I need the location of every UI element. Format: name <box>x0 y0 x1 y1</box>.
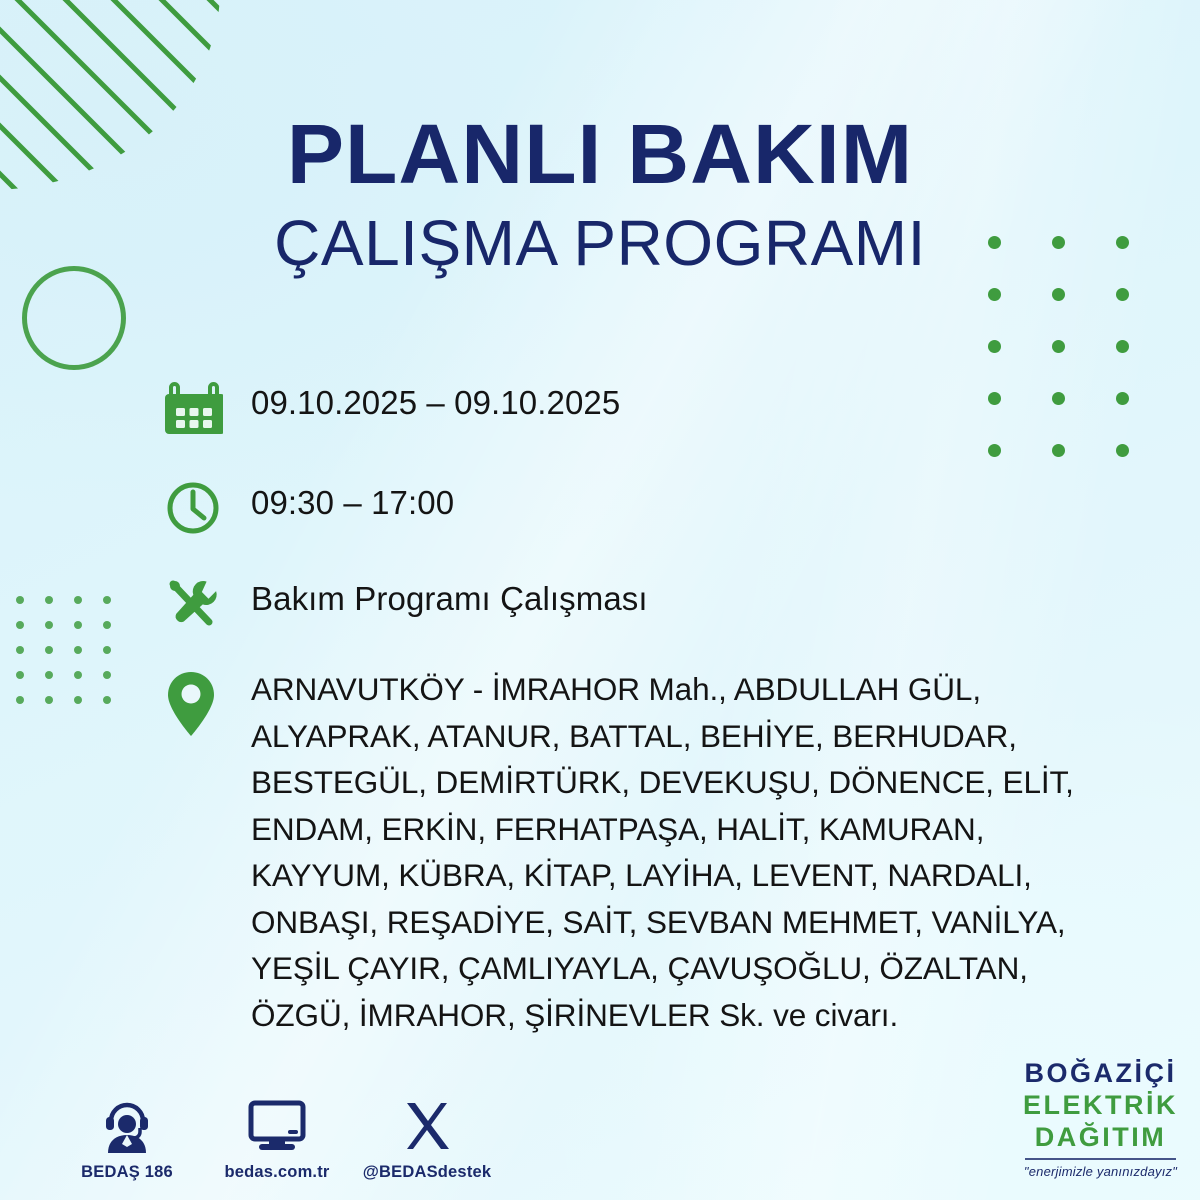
contact-phone[interactable]: BEDAŞ 186 <box>52 1091 202 1182</box>
contact-website[interactable]: bedas.com.tr <box>202 1091 352 1182</box>
monitor-icon <box>202 1091 352 1153</box>
logo-line-dagitim: DAĞITIM <box>1023 1124 1178 1151</box>
work-type-text: Bakım Programı Çalışması <box>251 574 648 620</box>
address-text: ARNAVUTKÖY - İMRAHOR Mah., ABDULLAH GÜL,… <box>251 666 1074 1038</box>
contact-phone-label: BEDAŞ 186 <box>52 1163 202 1182</box>
tools-icon <box>165 574 251 632</box>
address-line: KAYYUM, KÜBRA, KİTAP, LAYİHA, LEVENT, NA… <box>251 852 1074 899</box>
company-logo: BOĞAZİÇİ ELEKTRİK DAĞITIM "enerjimizle y… <box>1023 1060 1178 1178</box>
calendar-icon <box>165 378 251 438</box>
time-row: 09:30 – 17:00 <box>165 478 1160 574</box>
logo-divider <box>1025 1158 1176 1160</box>
title-subtitle-text: ÇALIŞMA PROGRAMI <box>0 210 1200 277</box>
info-block: 09.10.2025 – 09.10.2025 09:30 – 17:00 Ba… <box>165 378 1160 1038</box>
contact-website-label: bedas.com.tr <box>202 1163 352 1182</box>
date-row: 09.10.2025 – 09.10.2025 <box>165 378 1160 478</box>
logo-line-elektrik: ELEKTRİK <box>1023 1092 1178 1119</box>
contact-x-social[interactable]: @BEDASdestek <box>352 1091 502 1182</box>
x-twitter-icon <box>352 1091 502 1153</box>
title-main-text: PLANLI BAKIM <box>0 112 1200 196</box>
location-row: ARNAVUTKÖY - İMRAHOR Mah., ABDULLAH GÜL,… <box>165 666 1160 1038</box>
logo-line-bogazici: BOĞAZİÇİ <box>1023 1060 1178 1087</box>
location-pin-icon <box>165 666 251 740</box>
headset-operator-icon <box>52 1091 202 1153</box>
address-line: ONBAŞI, REŞADİYE, SAİT, SEVBAN MEHMET, V… <box>251 899 1074 946</box>
clock-icon <box>165 478 251 536</box>
contact-x-label: @BEDASdestek <box>352 1163 502 1182</box>
logo-tagline: "enerjimizle yanınızdayız" <box>1023 1165 1178 1178</box>
address-line: ÖZGÜ, İMRAHOR, ŞİRİNEVLER Sk. ve civarı. <box>251 992 1074 1039</box>
address-line: ARNAVUTKÖY - İMRAHOR Mah., ABDULLAH GÜL, <box>251 666 1074 713</box>
date-range-text: 09.10.2025 – 09.10.2025 <box>251 378 620 424</box>
address-line: ENDAM, ERKİN, FERHATPAŞA, HALİT, KAMURAN… <box>251 806 1074 853</box>
footer-contacts: BEDAŞ 186 bedas.com.tr @BEDASdestek <box>52 1091 522 1182</box>
circle-outline-decoration <box>22 266 126 370</box>
time-range-text: 09:30 – 17:00 <box>251 478 454 524</box>
address-line: YEŞİL ÇAYIR, ÇAMLIYAYLA, ÇAVUŞOĞLU, ÖZAL… <box>251 945 1074 992</box>
work-type-row: Bakım Programı Çalışması <box>165 574 1160 666</box>
dot-grid-left-decoration <box>16 596 132 721</box>
address-line: ALYAPRAK, ATANUR, BATTAL, BEHİYE, BERHUD… <box>251 713 1074 760</box>
address-line: BESTEGÜL, DEMİRTÜRK, DEVEKUŞU, DÖNENCE, … <box>251 759 1074 806</box>
page-title: PLANLI BAKIM ÇALIŞMA PROGRAMI <box>0 112 1200 277</box>
